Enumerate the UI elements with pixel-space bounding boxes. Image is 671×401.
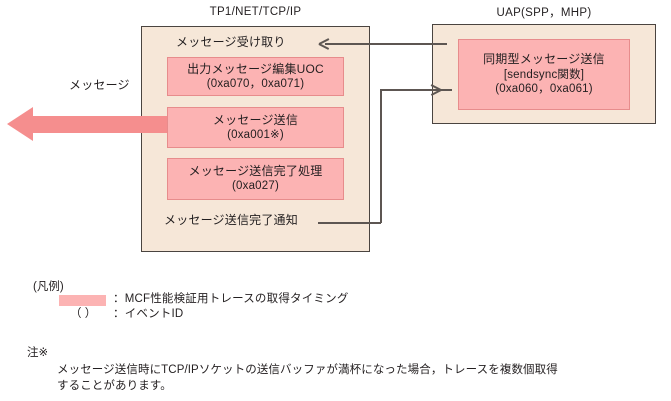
- trace-box-send-title: メッセージ送信: [213, 113, 298, 128]
- legend-row-trace-timing-text: ：MCF性能検証用トレースの取得タイミング: [113, 290, 349, 306]
- trace-box-sendsync-function: [sendsync関数]: [504, 68, 584, 82]
- connector-notify-to-trunk: [318, 222, 381, 224]
- legend-row-event-id-key: （ ）: [70, 305, 96, 321]
- connector-uap-to-receive: [325, 43, 447, 45]
- legend-title: (凡例): [33, 278, 64, 294]
- label-message-send-complete-notify: メッセージ送信完了通知: [164, 211, 298, 228]
- trace-box-complete-title: メッセージ送信完了処理: [189, 164, 323, 179]
- trace-box-message-send: メッセージ送信 (0xa001※): [167, 107, 344, 148]
- footnote-marker: 注※: [27, 344, 48, 360]
- message-arrow-shaft: [31, 116, 167, 133]
- trace-box-sendsync-event-id: (0xa060，0xa061): [495, 82, 593, 96]
- footnote-line-2: することがあります。: [57, 377, 172, 393]
- label-message-receive: メッセージ受け取り: [176, 33, 286, 50]
- panel-caption-uap: UAP(SPP，MHP): [432, 4, 656, 20]
- message-arrow-head-icon: [7, 107, 33, 141]
- trace-box-sendsync: 同期型メッセージ送信 [sendsync関数] (0xa060，0xa061): [458, 39, 630, 110]
- diagram-canvas: TP1/NET/TCP/IP UAP(SPP，MHP) メッセージ受け取り 出力…: [0, 0, 671, 401]
- legend-row-event-id-text: ：イベントID: [113, 305, 183, 321]
- trace-box-complete-event-id: (0xa027): [232, 179, 279, 193]
- panel-caption-tp1-net-tcp-ip: TP1/NET/TCP/IP: [141, 6, 370, 18]
- trace-box-sendsync-title: 同期型メッセージ送信: [483, 52, 605, 67]
- footnote-line-1: メッセージ送信時にTCP/IPソケットの送信バッファが満杯になった場合，トレース…: [57, 361, 558, 377]
- message-arrow-label: メッセージ: [69, 76, 130, 93]
- trace-box-output-message-edit-uoc: 出力メッセージ編集UOC (0xa070，0xa071): [167, 57, 344, 96]
- trace-box-message-send-complete: メッセージ送信完了処理 (0xa027): [167, 158, 344, 200]
- connector-vertical-trunk: [380, 89, 382, 223]
- trace-box-uoc-title: 出力メッセージ編集UOC: [187, 62, 324, 77]
- trace-box-uoc-event-id: (0xa070，0xa071): [207, 77, 305, 91]
- trace-box-send-event-id: (0xa001※): [227, 128, 284, 142]
